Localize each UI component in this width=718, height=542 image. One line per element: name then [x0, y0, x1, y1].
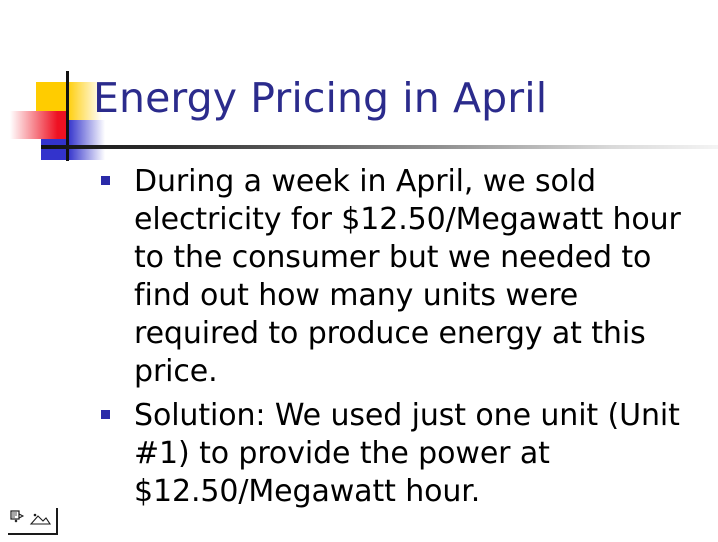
slide-title: Energy Pricing in April [93, 76, 693, 120]
bullet-item-text: During a week in April, we sold electric… [134, 163, 701, 391]
bullet-item: Solution: We used just one unit (Unit #1… [101, 397, 701, 511]
blue-square-decoration [41, 120, 105, 160]
slide-body: During a week in April, we sold electric… [101, 163, 701, 517]
title-divider-rule [41, 145, 718, 149]
broken-image-placeholder-icon [8, 508, 58, 535]
presentation-slide: Energy Pricing in April During a week in… [0, 0, 718, 542]
bullet-square-icon [101, 176, 110, 185]
bullet-item-text: Solution: We used just one unit (Unit #1… [134, 397, 701, 511]
bullet-square-icon [101, 410, 110, 419]
bullet-item: During a week in April, we sold electric… [101, 163, 701, 391]
red-square-decoration [10, 111, 68, 139]
